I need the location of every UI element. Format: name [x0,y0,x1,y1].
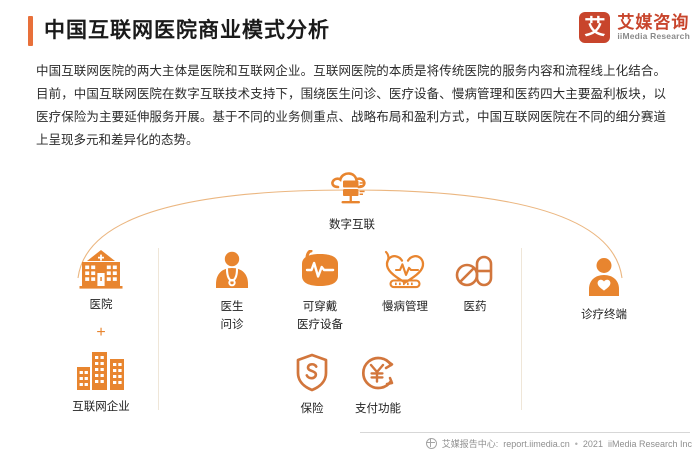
diagram: 数字互联 [0,160,700,425]
heart-monitor-icon [362,250,448,297]
doctor-stethoscope-icon [196,250,268,297]
pills-capsule-icon [440,252,510,297]
footer-company: iiMedia Research Inc [608,439,692,449]
body-paragraph: 中国互联网医院的两大主体是医院和互联网企业。互联网医院的本质是将传统医院的服务内… [36,60,666,152]
node-wearable-device-label: 可穿戴 医疗设备 [297,301,343,331]
node-doctor-consult-label: 医生 问诊 [221,301,244,331]
logo-name-en: iiMedia Research [617,32,690,41]
city-buildings-icon [48,350,154,397]
brand-logo: 艾 艾媒咨询 iiMedia Research [579,12,690,43]
slide-page: 中国互联网医院商业模式分析 艾 艾媒咨询 iiMedia Research 中国… [0,0,700,455]
footer-year: 2021 [583,439,603,449]
plus-connector: + [58,324,144,342]
node-payment-label: 支付功能 [355,403,401,415]
node-wearable-device[interactable]: 可穿戴 医疗设备 [280,250,360,333]
footer-divider [360,432,690,433]
hospital-building-icon [58,248,144,295]
shield-insurance-icon [281,352,343,399]
node-care-terminal[interactable]: 诊疗终端 [556,256,652,323]
footer-url[interactable]: report.iimedia.cn [503,439,570,449]
wearable-device-icon [280,250,360,297]
node-hub[interactable]: 数字互联 [312,170,392,233]
node-medicine-label: 医药 [464,301,487,313]
node-internet-enterprise-label: 互联网企业 [72,401,130,413]
node-care-terminal-label: 诊疗终端 [581,309,627,321]
title-accent-bar [28,16,33,46]
header: 中国互联网医院商业模式分析 艾 艾媒咨询 iiMedia Research [0,0,700,52]
footer: 艾媒报告中心: report.iimedia.cn • 2021 iiMedia… [360,437,692,450]
footer-separator: • [575,439,578,449]
node-internet-enterprise[interactable]: 互联网企业 [48,350,154,415]
cloud-server-icon [312,170,392,215]
patient-heart-icon [556,256,652,305]
node-hospital-label: 医院 [90,299,113,311]
node-hub-label: 数字互联 [329,219,375,231]
node-hospital[interactable]: 医院 [58,248,144,313]
body-copy: 中国互联网医院的两大主体是医院和互联网企业。互联网医院的本质是将传统医院的服务内… [36,60,666,152]
node-payment[interactable]: 支付功能 [340,352,416,417]
node-insurance-label: 保险 [301,403,324,415]
logo-text: 艾媒咨询 iiMedia Research [617,14,690,41]
node-chronic-disease[interactable]: 慢病管理 [362,250,448,315]
logo-mark-icon: 艾 [579,12,610,43]
divider-right [521,248,522,410]
page-title: 中国互联网医院商业模式分析 [44,14,330,44]
footer-source-label: 艾媒报告中心: [442,437,499,450]
node-insurance[interactable]: 保险 [281,352,343,417]
node-doctor-consult[interactable]: 医生 问诊 [196,250,268,333]
payment-yuan-icon [340,352,416,399]
globe-icon [426,438,437,449]
node-medicine[interactable]: 医药 [440,252,510,315]
logo-name-cn: 艾媒咨询 [617,14,690,32]
divider-left [158,248,159,410]
node-chronic-disease-label: 慢病管理 [382,301,428,313]
